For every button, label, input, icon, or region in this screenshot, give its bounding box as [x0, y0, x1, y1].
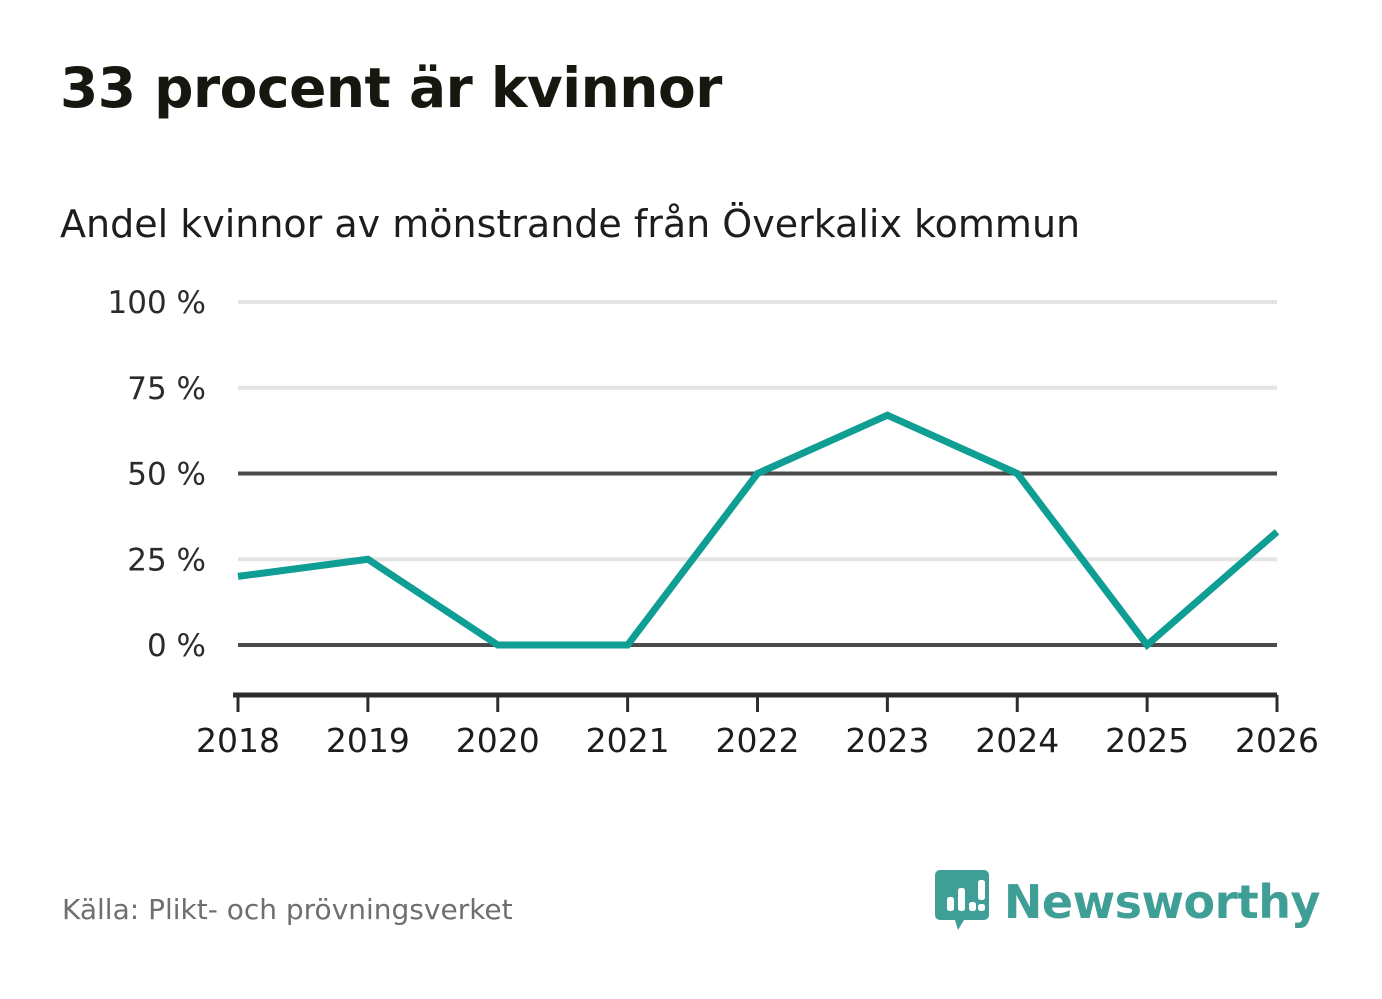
x-axis-tick-label: 2021 — [586, 721, 670, 760]
y-axis-labels: 0 %25 %50 %75 %100 % — [108, 285, 206, 664]
y-axis-tick-label: 75 % — [127, 371, 206, 407]
line-chart: 0 %25 %50 %75 %100 % 2018201920202021202… — [0, 0, 1382, 999]
x-axis-tick-label: 2024 — [975, 721, 1059, 760]
data-series-line — [238, 415, 1277, 645]
source-note: Källa: Plikt- och prövningsverket — [62, 893, 513, 926]
newsworthy-logo: Newsworthy — [934, 868, 1320, 936]
x-axis-tick-label: 2026 — [1235, 721, 1319, 760]
series-andel-kvinnor — [238, 415, 1277, 645]
chart-page: 33 procent är kvinnor Andel kvinnor av m… — [0, 0, 1382, 999]
y-axis-tick-label: 50 % — [127, 457, 206, 493]
logo-wordmark: Newsworthy — [1004, 879, 1320, 925]
x-axis — [233, 695, 1277, 712]
y-axis-tick-label: 25 % — [127, 542, 206, 578]
y-axis-tick-label: 100 % — [108, 285, 206, 321]
x-axis-tick-label: 2020 — [456, 721, 540, 760]
chart-svg: 0 %25 %50 %75 %100 % 2018201920202021202… — [0, 0, 1382, 999]
x-axis-tick-label: 2018 — [196, 721, 280, 760]
y-axis-tick-label: 0 % — [147, 628, 206, 664]
x-axis-tick-label: 2023 — [845, 721, 929, 760]
x-axis-tick-label: 2019 — [326, 721, 410, 760]
x-axis-tick-label: 2022 — [716, 721, 800, 760]
x-axis-labels: 201820192020202120222023202420252026 — [196, 721, 1319, 760]
bar-chart-speech-bubble-icon — [934, 868, 990, 936]
x-axis-tick-label: 2025 — [1105, 721, 1189, 760]
